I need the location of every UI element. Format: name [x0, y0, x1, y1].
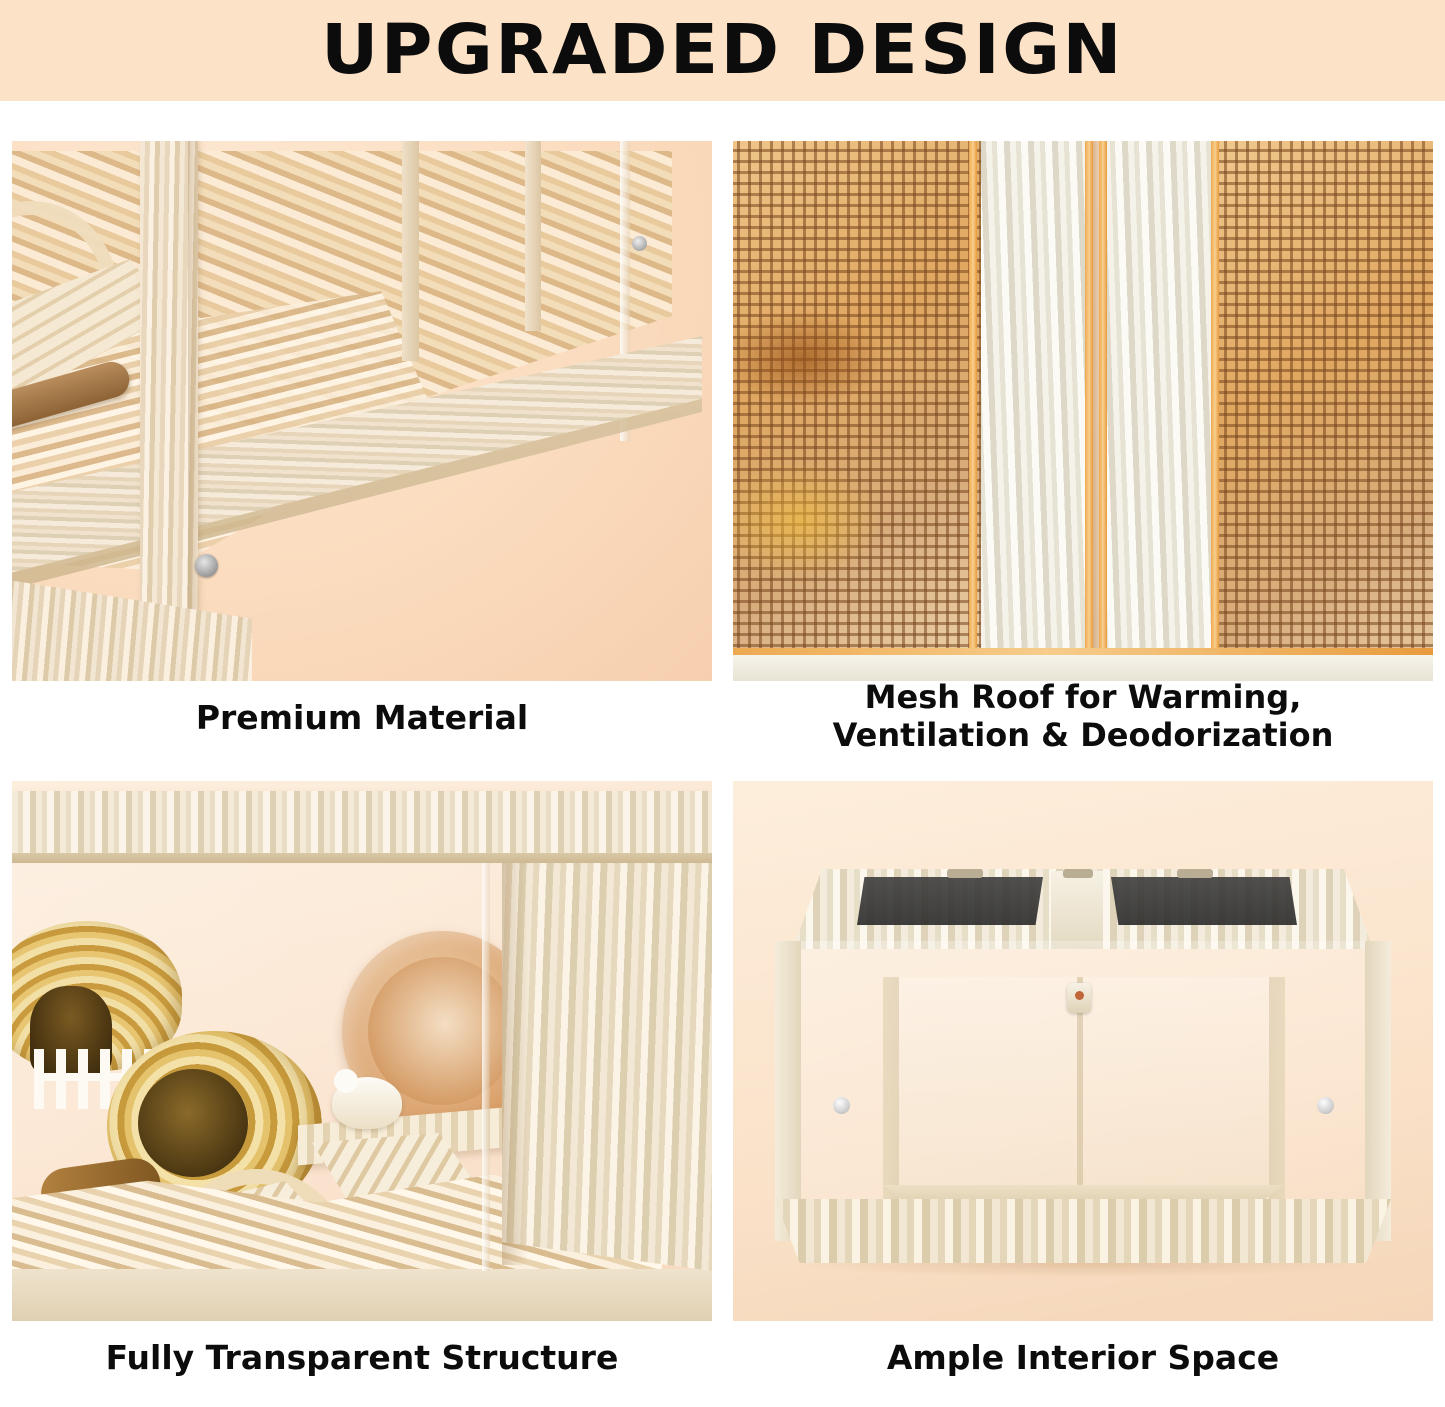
- metal-screw-icon: [195, 554, 218, 577]
- mesh-roof-lid-right: [1111, 877, 1297, 925]
- cage-glass-box: [12, 141, 692, 661]
- wood-frame-center-left: [981, 141, 1093, 681]
- roof-hinge-icon: [947, 869, 983, 878]
- feature-panel-transparent-structure: [12, 781, 712, 1321]
- corner-post-shadow: [188, 141, 202, 661]
- feature-grid: Premium Material Mesh Roo: [0, 101, 1445, 1407]
- front-post-left: [775, 941, 801, 1241]
- right-wood-post-shadow: [502, 795, 528, 1265]
- caption-transparent-structure: Fully Transparent Structure: [12, 1339, 712, 1378]
- interior-corner-post-left: [883, 977, 899, 1203]
- door-latch-screw-icon: [1075, 991, 1084, 1000]
- product-photo-premium-material: [12, 141, 712, 681]
- caption-ample-interior-space: Ample Interior Space: [733, 1339, 1433, 1378]
- mesh-panel-right: [1213, 141, 1433, 681]
- gold-trim-bottom: [733, 648, 1433, 655]
- cage-base-floor: [775, 1199, 1391, 1263]
- gold-trim-vertical: [1099, 141, 1107, 681]
- front-post-right: [1365, 941, 1391, 1241]
- roof-center-divider: [1051, 871, 1103, 949]
- feature-panel-ample-interior-space: [733, 781, 1433, 1321]
- roof-hinge-icon: [1177, 869, 1213, 878]
- base-frame: [12, 571, 252, 681]
- acrylic-panel-edge: [482, 851, 490, 1271]
- support-bar-left: [402, 141, 419, 361]
- metal-screw-icon: [1317, 1097, 1334, 1114]
- gold-trim-vertical: [1085, 141, 1093, 681]
- metal-screw-icon: [833, 1097, 850, 1114]
- gold-trim-vertical: [969, 141, 977, 681]
- caption-line-1: Mesh Roof for Warming,: [733, 679, 1433, 717]
- product-photo-mesh-roof: [733, 141, 1433, 681]
- right-wood-post: [502, 791, 712, 1271]
- caption-premium-material: Premium Material: [12, 699, 712, 738]
- mesh-shadow-blob: [733, 311, 883, 406]
- interior-corner-post-right: [1269, 977, 1285, 1203]
- mesh-panel-left: [733, 141, 983, 681]
- top-wood-rail-edge: [12, 853, 712, 863]
- feature-panel-premium-material: [12, 141, 712, 681]
- mesh-highlight-blob: [733, 461, 883, 581]
- gold-trim-vertical: [1211, 141, 1219, 681]
- mesh-roof-lid-left: [857, 877, 1043, 925]
- page-title: UPGRADED DESIGN: [321, 16, 1124, 85]
- feature-panel-mesh-roof: [733, 141, 1433, 681]
- cage-base-floor: [12, 1269, 712, 1321]
- product-photo-transparent-structure: [12, 781, 712, 1321]
- metal-screw-icon: [632, 236, 647, 251]
- roof-hinge-icon: [1063, 869, 1093, 878]
- caption-line-2: Ventilation & Deodorization: [733, 717, 1433, 755]
- top-wood-rail: [12, 791, 712, 853]
- wood-frame-center-right: [1099, 141, 1217, 681]
- ceramic-mouse-ear: [334, 1069, 358, 1093]
- support-bar-right: [525, 141, 541, 331]
- header-banner: UPGRADED DESIGN: [0, 0, 1445, 101]
- product-photo-ample-interior-space: [733, 781, 1433, 1321]
- caption-mesh-roof: Mesh Roof for Warming, Ventilation & Deo…: [733, 679, 1433, 755]
- grass-hut-lower-entrance: [138, 1069, 248, 1177]
